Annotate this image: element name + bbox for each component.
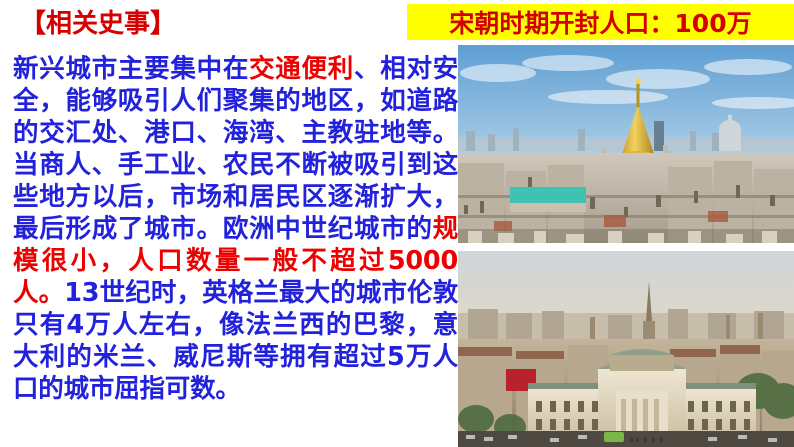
passage-segment-1-highlight: 交通便利 <box>249 54 354 84</box>
vienna-skyline-illustration <box>458 251 794 447</box>
page-title: 【相关史事】 <box>20 7 176 41</box>
green-vehicle <box>604 432 624 442</box>
population-banner-text: 宋朝时期开封人口：100万 <box>449 4 751 40</box>
passage-body: 新兴城市主要集中在交通便利、相对安全，能够吸引人们聚集的地区，如道路的交汇处、港… <box>13 53 458 405</box>
vienna-burgtheater-photo <box>458 251 794 447</box>
passage-segment-4: 13世纪时，英格兰最大的城市伦敦只有4万人左右，像法兰西的巴黎，意大利的米兰、威… <box>13 278 458 404</box>
paris-skyline-photo <box>458 45 794 243</box>
teal-roof <box>510 187 586 203</box>
population-banner: 宋朝时期开封人口：100万 <box>407 4 794 40</box>
passage-segment-0: 新兴城市主要集中在 <box>13 54 249 84</box>
paris-skyline-illustration <box>458 45 794 243</box>
